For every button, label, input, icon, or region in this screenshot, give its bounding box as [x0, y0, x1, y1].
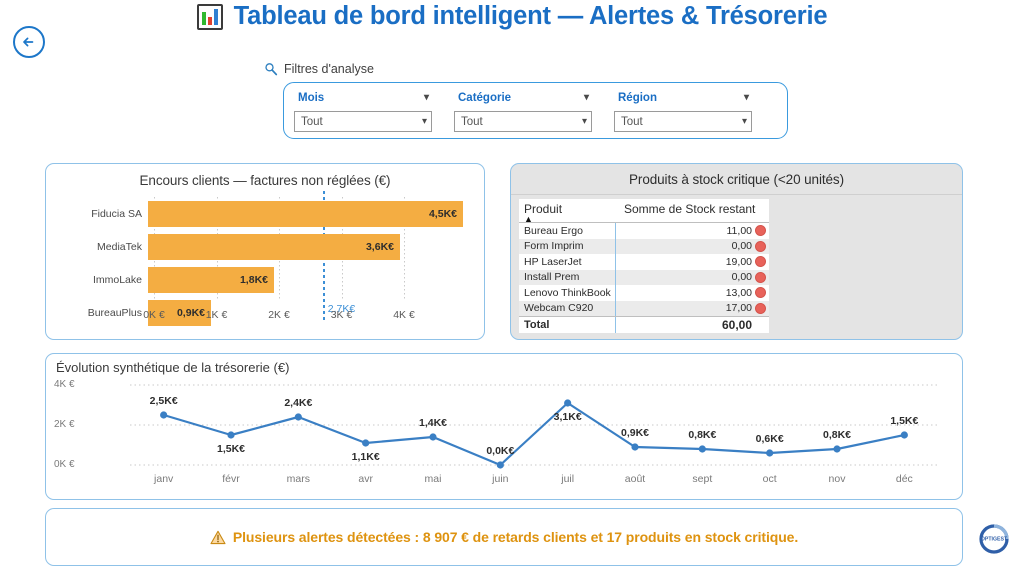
x-axis-tick: janv — [154, 473, 173, 485]
cell-stock-value: 0,00 — [732, 240, 752, 252]
status-badge-critical — [755, 272, 766, 283]
bar-value-label: 4,5K€ — [429, 208, 457, 220]
data-point[interactable] — [564, 399, 571, 406]
data-point[interactable] — [631, 443, 638, 450]
y-axis-tick: 4K € — [54, 379, 75, 390]
data-point[interactable] — [497, 461, 504, 468]
data-point[interactable] — [766, 449, 773, 456]
x-axis-tick: juin — [492, 473, 508, 485]
filter-region-label: Région — [618, 92, 657, 104]
critical-stock-panel: Produits à stock critique (<20 unités) P… — [510, 163, 963, 340]
status-badge-critical — [755, 287, 766, 298]
x-axis-tick: 4K € — [393, 309, 415, 321]
filter-mois-label: Mois — [298, 92, 324, 104]
treasury-line-plot: 0K €2K €4K €janvfévrmarsavrmaijuinjuilao… — [46, 375, 962, 493]
bar-category-label: MediaTek — [46, 241, 148, 253]
filter-mois-header[interactable]: Mois ▾ — [294, 89, 432, 107]
bar-category-label: ImmoLake — [46, 274, 148, 286]
y-axis-tick: 2K € — [54, 419, 75, 430]
data-point-label: 1,4K€ — [419, 417, 447, 429]
table-body: Bureau Ergo11,00Form Imprim0,00HP LaserJ… — [519, 223, 769, 333]
status-badge-critical — [755, 225, 766, 236]
cell-stock-value: 17,00 — [726, 302, 752, 314]
filter-mois-select[interactable]: Tout ▾ — [294, 111, 432, 132]
filter-categorie-label: Catégorie — [458, 92, 511, 104]
filter-categorie[interactable]: Catégorie ▾ Tout ▾ — [454, 89, 592, 132]
warning-triangle-icon — [210, 530, 226, 545]
bar-track: 1,8K€ — [148, 267, 484, 293]
data-point-label: 0,9K€ — [621, 427, 649, 439]
treasury-line-series — [164, 403, 905, 465]
bar-category-label: Fiducia SA — [46, 208, 148, 220]
cell-total-value: 60,00 — [616, 318, 769, 332]
x-axis-tick: 1K € — [206, 309, 228, 321]
receivables-chart-panel: Encours clients — factures non réglées (… — [45, 163, 485, 340]
x-axis-tick: août — [625, 473, 645, 485]
sort-ascending-icon[interactable]: ▲ — [524, 216, 616, 222]
data-point-label: 0,0K€ — [486, 445, 514, 457]
cell-total-label: Total — [519, 317, 616, 333]
data-point[interactable] — [833, 445, 840, 452]
x-axis-tick: 0K € — [143, 309, 165, 321]
treasury-chart-title: Évolution synthétique de la trésorerie (… — [46, 354, 962, 375]
optigest-logo-text: OPTIGEST — [981, 537, 1008, 543]
chevron-down-icon[interactable]: ▾ — [742, 117, 747, 127]
table-row[interactable]: Webcam C92017,00 — [519, 301, 769, 317]
x-axis-tick: mars — [287, 473, 310, 485]
cell-stock-value: 0,00 — [732, 271, 752, 283]
bar-chart-icon — [197, 4, 223, 30]
page-title: Tableau de bord intelligent — Alertes & … — [234, 2, 828, 31]
table-row[interactable]: Bureau Ergo11,00 — [519, 223, 769, 239]
cell-produit: Form Imprim — [519, 239, 616, 255]
bar-chart-row[interactable]: ImmoLake1,8K€ — [46, 267, 484, 293]
column-header-produit[interactable]: Produit ▲ — [519, 199, 616, 222]
bar-value-label: 3,6K€ — [366, 241, 394, 253]
optigest-logo: OPTIGEST — [974, 519, 1014, 559]
status-badge-critical — [755, 256, 766, 267]
x-axis-tick: nov — [829, 473, 846, 485]
alert-banner: Plusieurs alertes détectées : 8 907 € de… — [45, 508, 963, 566]
data-point[interactable] — [699, 445, 706, 452]
data-point-label: 1,5K€ — [217, 443, 245, 455]
chevron-down-icon[interactable]: ▾ — [422, 117, 427, 127]
divider — [511, 194, 962, 195]
bar-category-label: BureauPlus — [46, 307, 148, 319]
cell-produit: HP LaserJet — [519, 254, 616, 270]
table-row[interactable]: Install Prem0,00 — [519, 270, 769, 286]
y-axis-tick: 0K € — [54, 459, 75, 470]
data-point-label: 0,6K€ — [756, 433, 784, 445]
filter-categorie-header[interactable]: Catégorie ▾ — [454, 89, 592, 107]
column-header-stock[interactable]: Somme de Stock restant — [616, 199, 769, 222]
data-point-label: 1,5K€ — [890, 415, 918, 427]
cell-stock: 13,00 — [616, 287, 769, 299]
table-row[interactable]: HP LaserJet19,00 — [519, 254, 769, 270]
magnifier-icon — [264, 62, 278, 76]
filter-region-header[interactable]: Région ▾ — [614, 89, 752, 107]
status-badge-critical — [755, 241, 766, 252]
data-point[interactable] — [901, 431, 908, 438]
bar-chart-row[interactable]: MediaTek3,6K€ — [46, 234, 484, 260]
x-axis-tick: oct — [763, 473, 777, 485]
cell-stock-value: 13,00 — [726, 287, 752, 299]
critical-stock-title: Produits à stock critique (<20 unités) — [511, 164, 962, 187]
treasury-chart-panel: Évolution synthétique de la trésorerie (… — [45, 353, 963, 500]
x-axis-tick: sept — [692, 473, 712, 485]
critical-stock-table: Produit ▲ Somme de Stock restant Bureau … — [519, 199, 769, 333]
chevron-down-icon[interactable]: ▾ — [744, 93, 749, 103]
cell-stock: 0,00 — [616, 271, 769, 283]
bar-chart-row[interactable]: Fiducia SA4,5K€ — [46, 201, 484, 227]
table-row[interactable]: Form Imprim0,00 — [519, 239, 769, 255]
filter-mois-value: Tout — [301, 116, 323, 128]
x-axis-tick: 2K € — [268, 309, 290, 321]
filter-categorie-select[interactable]: Tout ▾ — [454, 111, 592, 132]
filter-categorie-value: Tout — [461, 116, 483, 128]
x-axis-tick: juil — [561, 473, 574, 485]
data-point-label: 0,8K€ — [688, 429, 716, 441]
data-point[interactable] — [160, 411, 167, 418]
x-axis-tick: mai — [425, 473, 442, 485]
filter-region-select[interactable]: Tout ▾ — [614, 111, 752, 132]
x-axis-tick: 3K € — [331, 309, 353, 321]
bar-fill[interactable]: 3,6K€ — [148, 234, 400, 260]
filters-panel: Mois ▾ Tout ▾ Catégorie ▾ Tout ▾ — [283, 82, 788, 139]
filters-label-text: Filtres d'analyse — [284, 62, 374, 76]
x-axis-tick: déc — [896, 473, 913, 485]
filter-mois[interactable]: Mois ▾ Tout ▾ — [294, 89, 432, 132]
data-point-label: 3,1K€ — [554, 411, 582, 423]
data-point-label: 2,4K€ — [284, 397, 312, 409]
cell-stock: 17,00 — [616, 302, 769, 314]
dashboard-page: Tableau de bord intelligent — Alertes & … — [0, 0, 1024, 576]
status-badge-critical — [755, 303, 766, 314]
cell-produit: Install Prem — [519, 270, 616, 286]
table-row[interactable]: Lenovo ThinkBook13,00 — [519, 285, 769, 301]
cell-produit: Lenovo ThinkBook — [519, 285, 616, 301]
chevron-down-icon[interactable]: ▾ — [584, 93, 589, 103]
chevron-down-icon[interactable]: ▾ — [582, 117, 587, 127]
cell-stock: 0,00 — [616, 240, 769, 252]
data-point[interactable] — [429, 433, 436, 440]
back-arrow-icon — [19, 32, 39, 52]
cell-stock-value: 11,00 — [727, 225, 753, 237]
filter-region[interactable]: Région ▾ Tout ▾ — [614, 89, 752, 132]
receivables-chart-title: Encours clients — factures non réglées (… — [46, 173, 484, 188]
bar-chart-x-axis: 0K €1K €2K €3K €4K € — [154, 309, 452, 323]
page-header: Tableau de bord intelligent — Alertes & … — [0, 2, 1024, 31]
data-point[interactable] — [227, 431, 234, 438]
cell-stock-value: 19,00 — [726, 256, 752, 268]
bar-fill[interactable]: 4,5K€ — [148, 201, 463, 227]
table-total-row: Total60,00 — [519, 316, 769, 333]
data-point[interactable] — [295, 413, 302, 420]
cell-stock: 11,00 — [616, 225, 769, 237]
filters-label: Filtres d'analyse — [264, 62, 374, 76]
cell-stock: 19,00 — [616, 256, 769, 268]
x-axis-tick: avr — [358, 473, 373, 485]
bar-fill[interactable]: 1,8K€ — [148, 267, 274, 293]
cell-produit: Bureau Ergo — [519, 223, 616, 239]
bar-track: 4,5K€ — [148, 201, 484, 227]
alert-text: Plusieurs alertes détectées : 8 907 € de… — [233, 529, 798, 545]
data-point-label: 2,5K€ — [150, 395, 178, 407]
cell-produit: Webcam C920 — [519, 301, 616, 317]
filter-region-value: Tout — [621, 116, 643, 128]
bar-track: 3,6K€ — [148, 234, 484, 260]
x-axis-tick: févr — [222, 473, 240, 485]
table-header-row: Produit ▲ Somme de Stock restant — [519, 199, 769, 223]
bar-value-label: 1,8K€ — [240, 274, 268, 286]
data-point-label: 1,1K€ — [352, 451, 380, 463]
data-point[interactable] — [362, 439, 369, 446]
data-point-label: 0,8K€ — [823, 429, 851, 441]
chevron-down-icon[interactable]: ▾ — [424, 93, 429, 103]
